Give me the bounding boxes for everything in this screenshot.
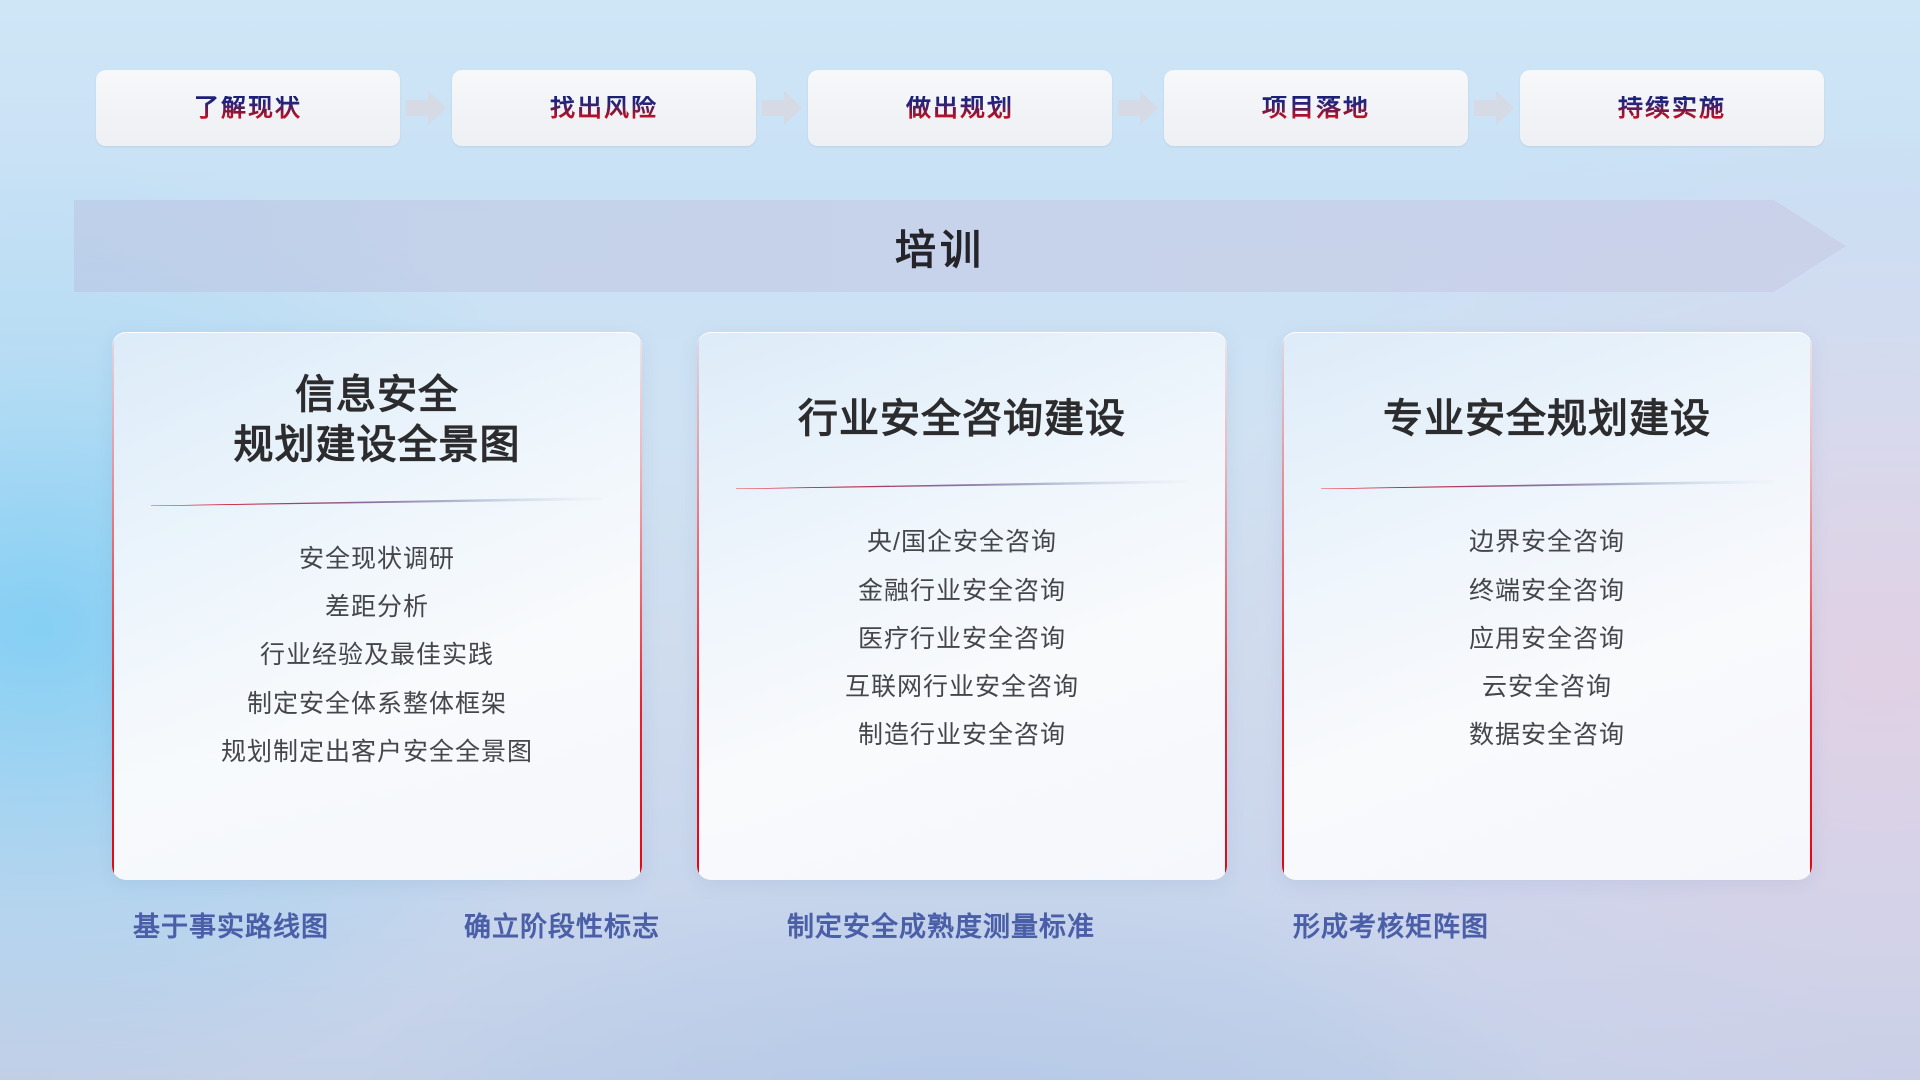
arrow-right-icon <box>756 70 808 146</box>
step-label: 项目落地 <box>1262 96 1370 121</box>
card-item-list: 边界安全咨询 终端安全咨询 应用安全咨询 云安全咨询 数据安全咨询 <box>1469 527 1625 751</box>
card-title: 行业安全咨询建设 <box>798 394 1126 444</box>
caption-3: 制定安全成熟度测量标准 <box>787 905 1095 944</box>
card-title-line-1: 信息安全 <box>295 373 459 417</box>
card-divider <box>736 480 1188 489</box>
card-title-line-1: 行业安全咨询建设 <box>798 397 1126 441</box>
step-label: 做出规划 <box>906 96 1014 121</box>
list-item: 制定安全体系整体框架 <box>247 689 507 720</box>
step-box-2[interactable]: 找出风险 <box>452 70 756 146</box>
step-box-4[interactable]: 项目落地 <box>1164 70 1468 146</box>
list-item: 行业经验及最佳实践 <box>260 640 494 671</box>
step-label: 找出风险 <box>550 96 658 121</box>
card-title-line-2: 规划建设全景图 <box>234 420 521 470</box>
list-item: 差距分析 <box>325 592 429 623</box>
list-item: 安全现状调研 <box>299 544 455 575</box>
card-title: 信息安全 规划建设全景图 <box>234 370 521 471</box>
arrow-right-icon <box>400 70 452 146</box>
card-industry-security-consulting[interactable]: 行业安全咨询建设 <box>697 332 1227 880</box>
card-information-security-blueprint[interactable]: 信息安全 规划建设全景图 <box>112 332 642 880</box>
card-title-line-1: 专业安全规划建设 <box>1383 397 1711 441</box>
list-item: 数据安全咨询 <box>1469 720 1625 751</box>
step-box-5[interactable]: 持续实施 <box>1520 70 1824 146</box>
list-item: 金融行业安全咨询 <box>858 576 1066 607</box>
step-label: 持续实施 <box>1618 96 1726 121</box>
card-professional-security-planning[interactable]: 专业安全规划建设 <box>1282 332 1812 880</box>
list-item: 云安全咨询 <box>1482 672 1612 703</box>
step-label: 了解现状 <box>194 96 302 121</box>
list-item: 央/国企安全咨询 <box>867 527 1057 558</box>
card-row: 信息安全 规划建设全景图 <box>112 332 1812 880</box>
caption-4: 形成考核矩阵图 <box>1293 905 1489 944</box>
card-item-list: 央/国企安全咨询 金融行业安全咨询 医疗行业安全咨询 互联网行业安全咨询 制造行… <box>845 527 1079 751</box>
list-item: 规划制定出客户安全全景图 <box>221 737 533 768</box>
caption-row: 基于事实路线图 确立阶段性标志 制定安全成熟度测量标准 形成考核矩阵图 <box>0 905 1920 959</box>
process-step-row: 了解现状 找出风险 做出规划 项目落地 持续实施 <box>0 68 1920 148</box>
step-box-1[interactable]: 了解现状 <box>96 70 400 146</box>
card-title: 专业安全规划建设 <box>1383 394 1711 444</box>
caption-1: 基于事实路线图 <box>133 905 329 944</box>
card-item-list: 安全现状调研 差距分析 行业经验及最佳实践 制定安全体系整体框架 规划制定出客户… <box>221 544 533 768</box>
arrow-right-icon <box>1112 70 1164 146</box>
training-banner: 培训 <box>74 200 1846 292</box>
list-item: 制造行业安全咨询 <box>858 720 1066 751</box>
list-item: 终端安全咨询 <box>1469 576 1625 607</box>
list-item: 边界安全咨询 <box>1469 527 1625 558</box>
step-box-3[interactable]: 做出规划 <box>808 70 1112 146</box>
card-divider <box>151 497 603 506</box>
card-divider <box>1321 480 1773 489</box>
slide-canvas: 了解现状 找出风险 做出规划 项目落地 持续实施 培训 <box>0 0 1920 1080</box>
list-item: 医疗行业安全咨询 <box>858 624 1066 655</box>
list-item: 应用安全咨询 <box>1469 624 1625 655</box>
list-item: 互联网行业安全咨询 <box>845 672 1079 703</box>
banner-title: 培训 <box>74 200 1846 292</box>
arrow-right-icon <box>1468 70 1520 146</box>
caption-2: 确立阶段性标志 <box>464 905 660 944</box>
